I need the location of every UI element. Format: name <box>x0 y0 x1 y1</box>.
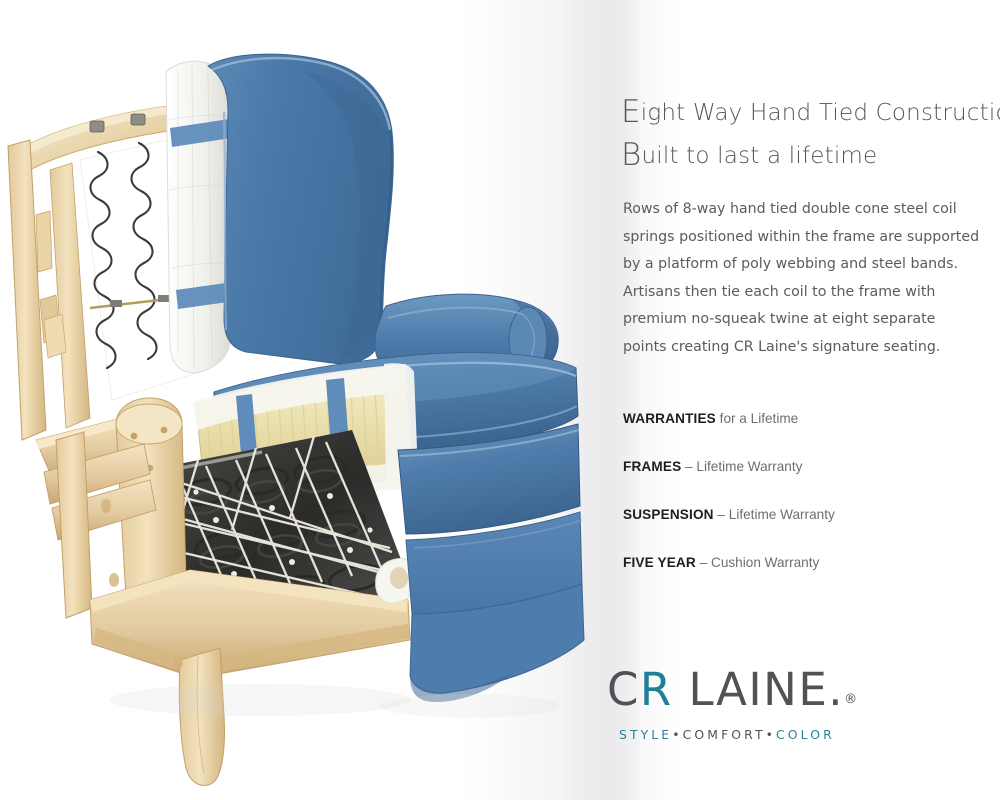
warranty-item-frames-dash: – <box>685 459 693 474</box>
body-paragraph: Rows of 8-way hand tied double cone stee… <box>623 196 983 361</box>
warranties-section: WARRANTIES for a Lifetime FRAMES – Lifet… <box>623 410 993 602</box>
headline-line-2: Built to last a lifetime <box>621 135 1000 178</box>
warranty-item-suspension-key: SUSPENSION <box>623 507 714 522</box>
warranty-item-five-year-dash: – <box>700 555 708 570</box>
warranty-item-suspension-value: Lifetime Warranty <box>729 507 835 522</box>
warranty-item-five-year: FIVE YEAR – Cushion Warranty <box>623 554 993 602</box>
headline-line-1-rest: ight Way Hand Tied Construction... <box>641 100 1000 126</box>
headline-line-1: Eight Way Hand Tied Construction... <box>621 92 1000 135</box>
logo-word-laine: LAINE <box>673 663 829 716</box>
warranty-item-suspension: SUSPENSION – Lifetime Warranty <box>623 506 993 554</box>
headline-line-2-cap: B <box>621 137 642 173</box>
tagline-comfort: COMFORT <box>683 727 766 742</box>
tagline-color: COLOR <box>776 727 835 742</box>
skirt-panel <box>376 424 584 702</box>
warranties-heading-rest: for a Lifetime <box>716 411 798 426</box>
warranty-item-frames: FRAMES – Lifetime Warranty <box>623 458 993 506</box>
logo-wordmark: CR LAINE.® <box>607 666 847 724</box>
warranty-item-frames-key: FRAMES <box>623 459 681 474</box>
product-marketing-page: Eight Way Hand Tied Construction... Buil… <box>0 0 1000 800</box>
tagline-style: STYLE <box>619 727 672 742</box>
headline-line-1-cap: E <box>621 94 641 130</box>
tagline-separator-1: • <box>672 727 682 742</box>
logo-letter-r: R <box>640 663 673 716</box>
warranty-item-suspension-dash: – <box>717 507 725 522</box>
chair-cutaway-photo <box>0 0 640 800</box>
warranty-item-five-year-value: Cushion Warranty <box>711 555 819 570</box>
body-copy: Rows of 8-way hand tied double cone stee… <box>623 196 983 361</box>
logo-period: . <box>828 663 844 716</box>
page-title: Eight Way Hand Tied Construction... Buil… <box>621 92 1000 178</box>
back-cushion <box>208 54 393 364</box>
headline-line-2-rest: uilt to last a lifetime <box>642 143 878 169</box>
logo-letter-c: C <box>607 663 640 716</box>
registered-trademark-icon: ® <box>844 692 857 707</box>
warranty-item-five-year-key: FIVE YEAR <box>623 555 696 570</box>
warranty-item-frames-value: Lifetime Warranty <box>696 459 802 474</box>
tagline-separator-2: • <box>766 727 776 742</box>
cr-laine-logo: CR LAINE.® STYLE•COMFORT•COLOR <box>607 666 847 738</box>
logo-tagline: STYLE•COMFORT•COLOR <box>619 727 847 742</box>
warranties-heading-key: WARRANTIES <box>623 411 716 426</box>
warranties-heading: WARRANTIES for a Lifetime <box>623 410 993 458</box>
